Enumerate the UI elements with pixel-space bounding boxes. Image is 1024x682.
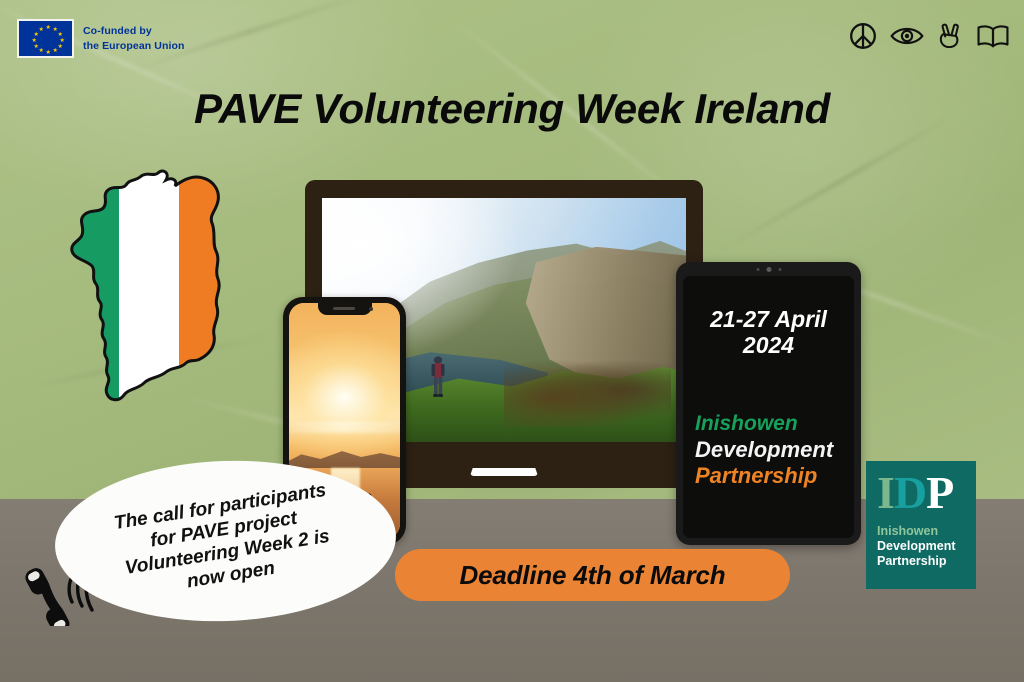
tablet-organisation-name: Inishowen Development Partnership (695, 411, 833, 490)
idp-word-1: Inishowen (877, 524, 976, 539)
event-dates-line-2: 2024 (683, 332, 854, 358)
callout-speech-bubble: The call for participants for PAVE proje… (52, 455, 398, 627)
phone-camera-icon (369, 307, 373, 311)
monitor-stand-notch (470, 468, 538, 476)
tablet-brand-line-2: Development (695, 437, 833, 464)
eu-flag-icon: ★ ★ ★ ★ ★ ★ ★ ★ ★ ★ ★ ★ (17, 19, 74, 58)
tablet-brand-line-3: Partnership (695, 463, 833, 490)
poster-canvas: ★ ★ ★ ★ ★ ★ ★ ★ ★ ★ ★ ★ Co-funded by the… (0, 0, 1024, 682)
eu-funding-line-1: Co-funded by (83, 24, 185, 38)
hiker-figure (420, 351, 456, 403)
idp-word-3: Partnership (877, 554, 976, 569)
tablet-screen-content: 21-27 April 2024 Inishowen Development P… (683, 276, 854, 538)
event-dates-line-1: 21-27 April (683, 306, 854, 332)
peace-symbol-icon (849, 22, 877, 50)
eye-icon (890, 23, 924, 49)
idp-letter-i: I (877, 467, 894, 518)
tablet-device: 21-27 April 2024 Inishowen Development P… (676, 262, 861, 545)
eu-funding-logo: ★ ★ ★ ★ ★ ★ ★ ★ ★ ★ ★ ★ Co-funded by the… (17, 19, 185, 58)
eu-funding-text: Co-funded by the European Union (83, 24, 185, 52)
open-book-icon (976, 23, 1010, 49)
deadline-badge: Deadline 4th of March (395, 549, 790, 601)
tablet-brand-line-1: Inishowen (695, 411, 833, 437)
symbol-icon-row (849, 22, 1010, 50)
event-dates: 21-27 April 2024 (683, 306, 854, 358)
idp-word-2: Development (877, 539, 976, 554)
idp-monogram: IDP (877, 471, 976, 515)
phone-speaker-icon (333, 307, 355, 310)
victory-hand-icon (937, 22, 963, 50)
tablet-camera-icons (756, 267, 781, 272)
idp-letter-d: D (894, 467, 926, 518)
idp-letter-p: P (926, 467, 953, 518)
idp-wordmark: Inishowen Development Partnership (877, 524, 976, 569)
idp-logo: IDP Inishowen Development Partnership (866, 461, 976, 589)
ireland-map-flag-icon (62, 163, 262, 421)
poster-title: PAVE Volunteering Week Ireland (0, 85, 1024, 133)
eu-funding-line-2: the European Union (83, 39, 185, 53)
